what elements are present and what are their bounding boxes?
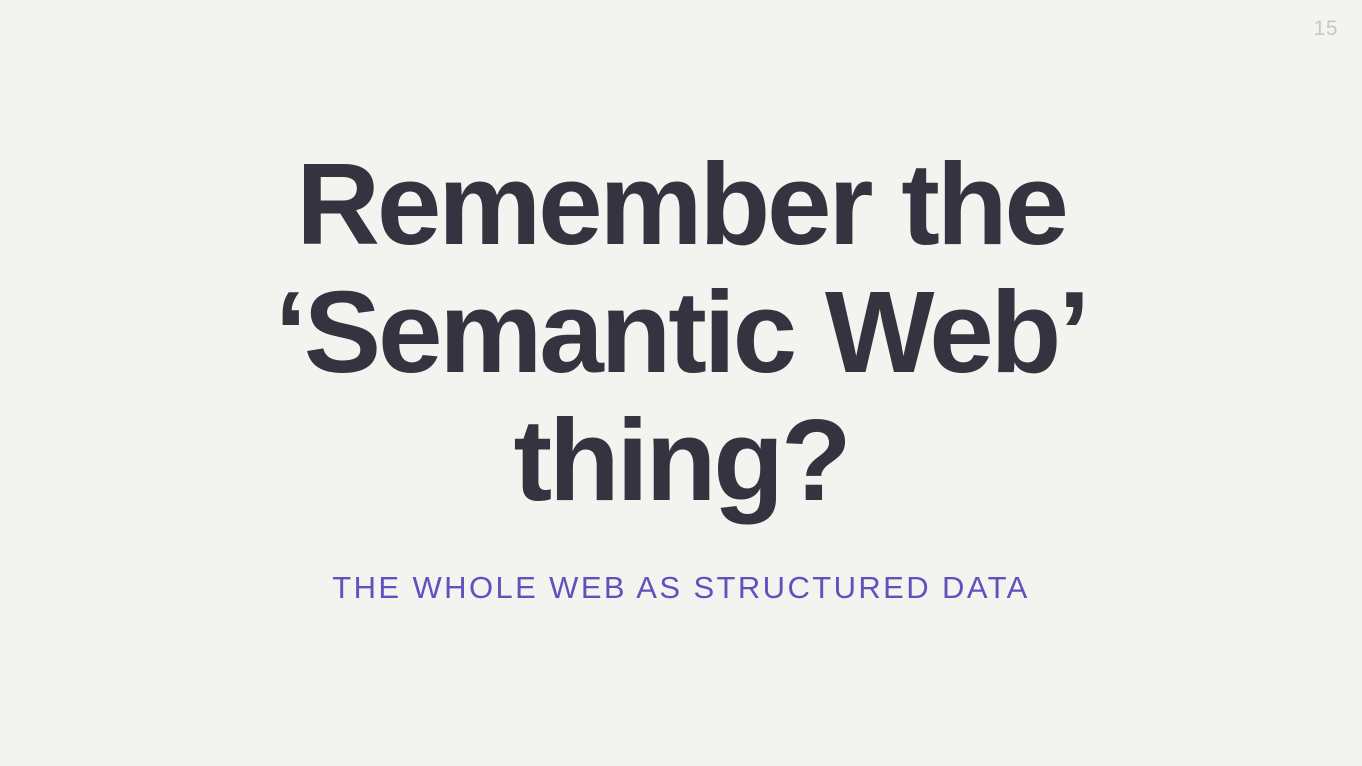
page-title-line-3: thing? — [131, 396, 1231, 524]
page-title-line-1: Remember the — [131, 140, 1231, 268]
page-number: 15 — [1314, 18, 1338, 39]
page-title: Remember the ‘Semantic Web’ thing? — [131, 140, 1231, 524]
slide-subtitle: THE WHOLE WEB AS STRUCTURED DATA — [332, 524, 1029, 606]
page-title-line-2: ‘Semantic Web’ — [131, 268, 1231, 396]
slide-content: Remember the ‘Semantic Web’ thing? THE W… — [0, 140, 1362, 606]
slide-canvas: 15 Remember the ‘Semantic Web’ thing? TH… — [0, 0, 1362, 766]
